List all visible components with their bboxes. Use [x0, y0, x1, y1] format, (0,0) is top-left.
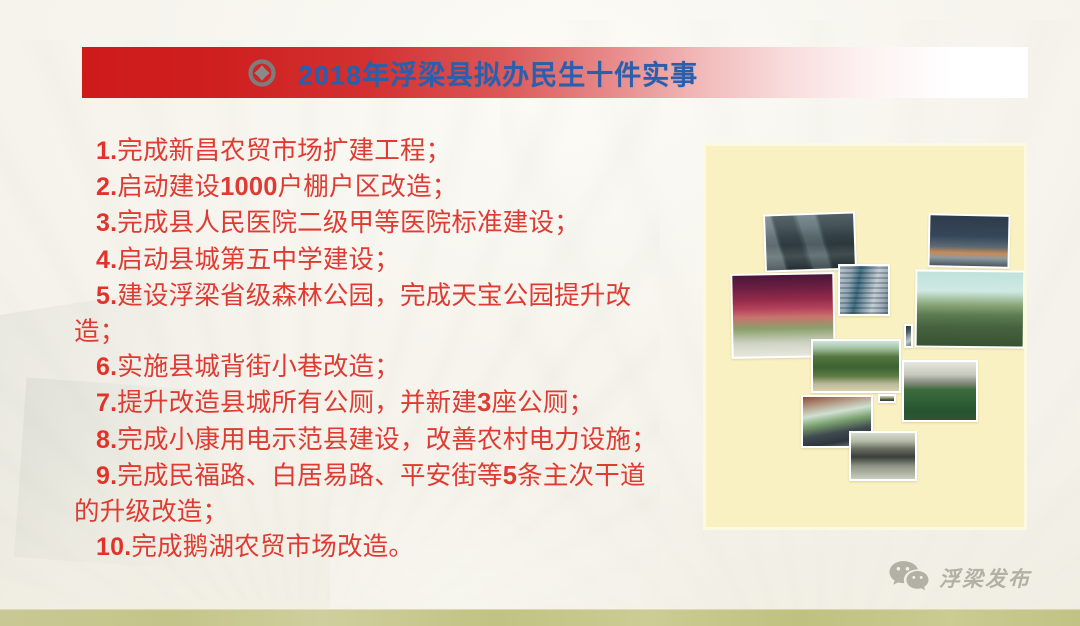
photo-bridge-river-image — [765, 213, 855, 270]
list-item-text: 完成鹅湖农贸市场改造。 — [131, 532, 414, 561]
list-item-number: 7. — [96, 389, 117, 417]
header-content: 2018年浮梁县拟办民生十件实事 — [82, 47, 1028, 98]
list-item-number: 5. — [96, 282, 117, 310]
photo-signboard-image — [880, 396, 894, 401]
photo-stadium-arena-image — [929, 215, 1008, 267]
photo-forest-park-image — [813, 341, 899, 391]
target-ring-icon — [247, 58, 277, 88]
list-item-continuation: 造； — [74, 314, 686, 349]
list-item-text: 的升级改造； — [74, 497, 228, 526]
list-item-number: 3. — [96, 209, 117, 237]
photo-signboard — [878, 394, 896, 403]
photo-town-panorama-image — [917, 271, 1024, 346]
list-item-number: 6. — [96, 353, 117, 381]
list-item-number: 2. — [96, 173, 117, 201]
list-item-number: 1. — [96, 137, 117, 165]
list-item: 3.完成县人民医院二级甲等医院标准建设； — [74, 205, 686, 241]
photo-bus-stop-image — [906, 326, 911, 346]
list-item: 8.完成小康用电示范县建设，改善农村电力设施； — [74, 422, 686, 458]
photo-bus-stop — [904, 324, 913, 348]
wechat-account-name: 浮梁发布 — [939, 563, 1031, 593]
photo-school-field-image — [904, 362, 976, 420]
list-item: 7.提升改造县城所有公厕，并新建3座公厕； — [74, 385, 686, 421]
presentation-slide: 2018年浮梁县拟办民生十件实事 1.完成新昌农贸市场扩建工程；2.启动建设10… — [0, 0, 1080, 626]
photo-school-field — [902, 360, 978, 422]
wechat-icon — [888, 560, 930, 596]
list-item: 2.启动建设1000户棚户区改造； — [74, 169, 686, 205]
list-item-text: 启动建设1000户棚户区改造； — [117, 172, 457, 201]
photo-collage-panel — [703, 143, 1027, 530]
photo-office-tower — [838, 264, 890, 316]
list-item: 5.建设浮梁省级森林公园，完成天宝公园提升改 — [74, 278, 686, 314]
list-item-text: 完成新昌农贸市场扩建工程； — [117, 136, 451, 165]
bottom-accent-band — [0, 609, 1080, 626]
list-item-text: 启动县城第五中学建设； — [117, 245, 400, 274]
photo-public-building-image — [851, 433, 915, 479]
list-item: 1.完成新昌农贸市场扩建工程； — [74, 133, 686, 169]
photo-public-building — [849, 431, 917, 481]
list-item-number: 4. — [96, 246, 117, 274]
list-item-text: 造； — [74, 317, 125, 346]
photo-stadium-arena — [927, 213, 1010, 269]
list-item: 6.实施县城背街小巷改造； — [74, 349, 686, 385]
list-item-text: 完成小康用电示范县建设，改善农村电力设施； — [117, 425, 657, 454]
list-item-number: 10. — [96, 533, 131, 561]
photo-town-panorama — [915, 269, 1026, 348]
header-ribbon: 2018年浮梁县拟办民生十件实事 — [82, 47, 1028, 98]
photo-office-tower-image — [840, 266, 888, 314]
page-title: 2018年浮梁县拟办民生十件实事 — [298, 53, 698, 92]
list-item-text: 完成民福路、白居易路、平安街等5条主次干道 — [117, 461, 645, 490]
list-item-number: 9. — [96, 462, 117, 490]
list-item: 10.完成鹅湖农贸市场改造。 — [74, 529, 686, 565]
wechat-watermark: 浮梁发布 — [888, 560, 1031, 596]
list-item-continuation: 的升级改造； — [74, 494, 686, 529]
livelihood-items-list: 1.完成新昌农贸市场扩建工程；2.启动建设1000户棚户区改造；3.完成县人民医… — [74, 133, 686, 565]
photo-collage — [706, 146, 1024, 527]
list-item-text: 实施县城背街小巷改造； — [117, 352, 400, 381]
list-item-text: 提升改造县城所有公厕，并新建3座公厕； — [117, 388, 594, 417]
list-item: 4.启动县城第五中学建设； — [74, 242, 686, 278]
list-item-text: 建设浮梁省级森林公园，完成天宝公园提升改 — [117, 281, 631, 310]
photo-forest-park — [811, 339, 901, 393]
list-item: 9.完成民福路、白居易路、平安街等5条主次干道 — [74, 458, 686, 494]
list-item-number: 8. — [96, 426, 117, 454]
list-item-text: 完成县人民医院二级甲等医院标准建设； — [117, 208, 580, 237]
